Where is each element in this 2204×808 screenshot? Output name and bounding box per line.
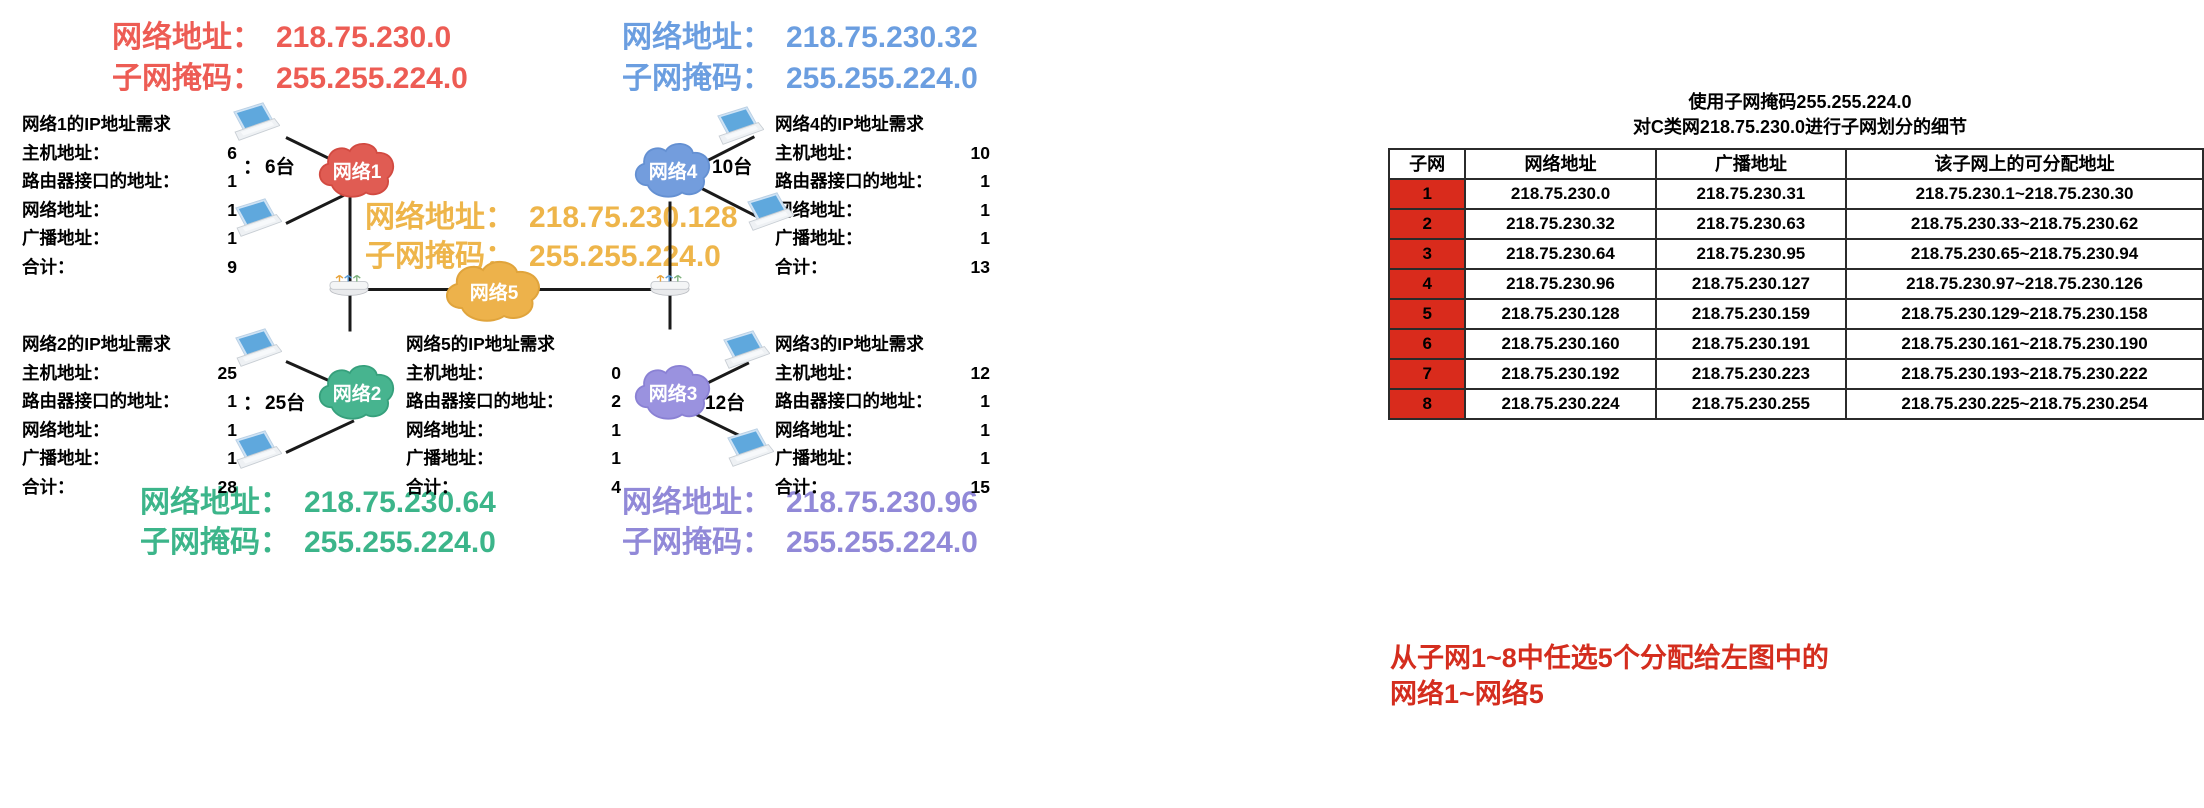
net1-count-colon: ： bbox=[243, 152, 262, 179]
net2-host-count: 25台 bbox=[265, 388, 305, 415]
cell-network-address: 218.75.230.160 bbox=[1465, 329, 1655, 359]
row-label-host: 主机地址： bbox=[22, 139, 110, 168]
cell-subnet-index: 7 bbox=[1389, 359, 1465, 389]
net1-total-value: 9 bbox=[197, 253, 237, 282]
cell-usable-range: 218.75.230.129~218.75.230.158 bbox=[1846, 299, 2203, 329]
table-header-row: 子网 网络地址 广播地址 该子网上的可分配地址 bbox=[1389, 149, 2203, 179]
cell-broadcast-address: 218.75.230.223 bbox=[1656, 359, 1846, 389]
net1-address-key: 网络地址： bbox=[112, 21, 262, 54]
cell-network-address: 218.75.230.0 bbox=[1465, 179, 1655, 209]
cell-broadcast-address: 218.75.230.63 bbox=[1656, 209, 1846, 239]
net3-network-value: 1 bbox=[950, 416, 990, 445]
row-label-broadcast: 广播地址： bbox=[22, 444, 110, 473]
cell-subnet-index: 4 bbox=[1389, 269, 1465, 299]
laptop-icon bbox=[740, 192, 794, 232]
net4-mask-label: 子网掩码：255.255.224.0 bbox=[622, 59, 978, 99]
router-icon bbox=[647, 272, 693, 298]
net1-router-value: 1 bbox=[197, 167, 237, 196]
net3-broadcast-value: 1 bbox=[950, 444, 990, 473]
net5-address-label: 网络地址：218.75.230.128 bbox=[365, 198, 738, 238]
laptop-icon bbox=[228, 328, 282, 368]
net4-requirements-title: 网络4的IP地址需求 bbox=[775, 110, 1030, 139]
table-row[interactable]: 1218.75.230.0218.75.230.31218.75.230.1~2… bbox=[1389, 179, 2203, 209]
row-label-total: 合计： bbox=[775, 253, 828, 282]
col-header-broadcast-address: 广播地址 bbox=[1656, 149, 1846, 179]
cloud-net2-label: 网络2 bbox=[312, 362, 402, 422]
net2-mask-label: 子网掩码：255.255.224.0 bbox=[140, 523, 496, 563]
net3-router-value: 1 bbox=[950, 387, 990, 416]
row-label-router: 路由器接口的地址： bbox=[22, 167, 180, 196]
cell-broadcast-address: 218.75.230.191 bbox=[1656, 329, 1846, 359]
net1-mask-value: 255.255.224.0 bbox=[276, 62, 468, 95]
row-label-total: 合计： bbox=[22, 253, 75, 282]
row-label-router: 路由器接口的地址： bbox=[775, 387, 933, 416]
net1-address-label: 网络地址：218.75.230.0 bbox=[112, 18, 451, 58]
cell-subnet-index: 8 bbox=[1389, 389, 1465, 419]
net2-total-value: 28 bbox=[197, 473, 237, 502]
row-label-network: 网络地址： bbox=[775, 416, 863, 445]
cell-network-address: 218.75.230.224 bbox=[1465, 389, 1655, 419]
net3-mask-value: 255.255.224.0 bbox=[786, 526, 978, 559]
net4-mask-key: 子网掩码： bbox=[622, 62, 772, 95]
table-caption: 使用子网掩码255.255.224.0 对C类网218.75.230.0进行子网… bbox=[1430, 90, 2170, 140]
table-row[interactable]: 5218.75.230.128218.75.230.159218.75.230.… bbox=[1389, 299, 2203, 329]
net5-host-value: 0 bbox=[581, 359, 621, 388]
net4-address-value: 218.75.230.32 bbox=[786, 21, 978, 54]
cell-usable-range: 218.75.230.225~218.75.230.254 bbox=[1846, 389, 2203, 419]
laptop-icon bbox=[226, 102, 280, 142]
row-label-total: 合计： bbox=[406, 473, 459, 502]
subnet-table: 子网 网络地址 广播地址 该子网上的可分配地址 1218.75.230.0218… bbox=[1388, 148, 2204, 420]
net4-broadcast-value: 1 bbox=[950, 224, 990, 253]
cell-usable-range: 218.75.230.161~218.75.230.190 bbox=[1846, 329, 2203, 359]
row-label-host: 主机地址： bbox=[22, 359, 110, 388]
cell-subnet-index: 3 bbox=[1389, 239, 1465, 269]
row-label-network: 网络地址： bbox=[22, 416, 110, 445]
cell-network-address: 218.75.230.96 bbox=[1465, 269, 1655, 299]
cell-usable-range: 218.75.230.33~218.75.230.62 bbox=[1846, 209, 2203, 239]
net5-requirements-title: 网络5的IP地址需求 bbox=[406, 330, 661, 359]
table-row[interactable]: 3218.75.230.64218.75.230.95218.75.230.65… bbox=[1389, 239, 2203, 269]
table-row[interactable]: 6218.75.230.160218.75.230.191218.75.230.… bbox=[1389, 329, 2203, 359]
row-label-router: 路由器接口的地址： bbox=[775, 167, 933, 196]
cell-broadcast-address: 218.75.230.95 bbox=[1656, 239, 1846, 269]
net5-requirements: 网络5的IP地址需求 主机地址：0 路由器接口的地址：2 网络地址：1 广播地址… bbox=[406, 330, 661, 501]
cloud-net4-label: 网络4 bbox=[628, 140, 718, 200]
cell-subnet-index: 2 bbox=[1389, 209, 1465, 239]
net5-address-value: 218.75.230.128 bbox=[529, 201, 738, 234]
row-label-broadcast: 广播地址： bbox=[775, 444, 863, 473]
assignment-note-line2: 网络1~网络5 bbox=[1390, 676, 1829, 712]
row-label-network: 网络地址： bbox=[406, 416, 494, 445]
table-row[interactable]: 4218.75.230.96218.75.230.127218.75.230.9… bbox=[1389, 269, 2203, 299]
net3-mask-label: 子网掩码：255.255.224.0 bbox=[622, 523, 978, 563]
net5-total-value: 4 bbox=[581, 473, 621, 502]
cell-broadcast-address: 218.75.230.255 bbox=[1656, 389, 1846, 419]
table-row[interactable]: 2218.75.230.32218.75.230.63218.75.230.33… bbox=[1389, 209, 2203, 239]
cell-usable-range: 218.75.230.65~218.75.230.94 bbox=[1846, 239, 2203, 269]
row-label-router: 路由器接口的地址： bbox=[22, 387, 180, 416]
net2-mask-key: 子网掩码： bbox=[140, 526, 290, 559]
laptop-icon bbox=[228, 198, 282, 238]
router-icon bbox=[326, 272, 372, 298]
row-label-broadcast: 广播地址： bbox=[22, 224, 110, 253]
net2-count-colon: ： bbox=[243, 388, 262, 415]
net1-host-value: 6 bbox=[197, 139, 237, 168]
cell-network-address: 218.75.230.192 bbox=[1465, 359, 1655, 389]
cell-subnet-index: 6 bbox=[1389, 329, 1465, 359]
net4-router-value: 1 bbox=[950, 167, 990, 196]
table-row[interactable]: 8218.75.230.224218.75.230.255218.75.230.… bbox=[1389, 389, 2203, 419]
net1-host-count: 6台 bbox=[265, 152, 295, 179]
net1-mask-key: 子网掩码： bbox=[112, 62, 262, 95]
net3-requirements: 网络3的IP地址需求 主机地址：12 路由器接口的地址：1 网络地址：1 广播地… bbox=[775, 330, 1030, 501]
cloud-net2[interactable]: 网络2 bbox=[312, 362, 402, 422]
cloud-net5-label: 网络5 bbox=[438, 258, 550, 324]
row-label-router: 路由器接口的地址： bbox=[406, 387, 564, 416]
subnet-table-wrapper: 子网 网络地址 广播地址 该子网上的可分配地址 1218.75.230.0218… bbox=[1388, 148, 2204, 420]
row-label-total: 合计： bbox=[22, 473, 75, 502]
cloud-net1[interactable]: 网络1 bbox=[312, 140, 402, 200]
cell-subnet-index: 5 bbox=[1389, 299, 1465, 329]
cell-usable-range: 218.75.230.97~218.75.230.126 bbox=[1846, 269, 2203, 299]
cell-network-address: 218.75.230.128 bbox=[1465, 299, 1655, 329]
net5-mask-value: 255.255.224.0 bbox=[529, 240, 721, 273]
cloud-net4[interactable]: 网络4 bbox=[628, 140, 718, 200]
cloud-net3-label: 网络3 bbox=[628, 362, 718, 422]
net3-requirements-title: 网络3的IP地址需求 bbox=[775, 330, 1030, 359]
cloud-net1-label: 网络1 bbox=[312, 140, 402, 200]
cloud-net3[interactable]: 网络3 bbox=[628, 362, 718, 422]
net5-network-value: 1 bbox=[581, 416, 621, 445]
cloud-net5[interactable]: 网络5 bbox=[438, 258, 550, 324]
cell-broadcast-address: 218.75.230.31 bbox=[1656, 179, 1846, 209]
table-caption-line2: 对C类网218.75.230.0进行子网划分的细节 bbox=[1430, 115, 2170, 140]
row-label-host: 主机地址： bbox=[406, 359, 494, 388]
subnet-table-body: 1218.75.230.0218.75.230.31218.75.230.1~2… bbox=[1389, 179, 2203, 419]
cell-usable-range: 218.75.230.193~218.75.230.222 bbox=[1846, 359, 2203, 389]
net4-requirements: 网络4的IP地址需求 主机地址：10 路由器接口的地址：1 网络地址：1 广播地… bbox=[775, 110, 1030, 281]
cell-broadcast-address: 218.75.230.159 bbox=[1656, 299, 1846, 329]
cell-usable-range: 218.75.230.1~218.75.230.30 bbox=[1846, 179, 2203, 209]
cell-subnet-index: 1 bbox=[1389, 179, 1465, 209]
net4-host-value: 10 bbox=[950, 139, 990, 168]
row-label-total: 合计： bbox=[775, 473, 828, 502]
table-row[interactable]: 7218.75.230.192218.75.230.223218.75.230.… bbox=[1389, 359, 2203, 389]
net2-mask-value: 255.255.224.0 bbox=[304, 526, 496, 559]
laptop-icon bbox=[716, 330, 770, 370]
laptop-icon bbox=[720, 428, 774, 468]
net5-broadcast-value: 1 bbox=[581, 444, 621, 473]
assignment-note-line1: 从子网1~8中任选5个分配给左图中的 bbox=[1390, 640, 1829, 676]
cell-broadcast-address: 218.75.230.127 bbox=[1656, 269, 1846, 299]
net1-mask-label: 子网掩码：255.255.224.0 bbox=[112, 59, 468, 99]
col-header-network-address: 网络地址 bbox=[1465, 149, 1655, 179]
net3-total-value: 15 bbox=[950, 473, 990, 502]
net4-mask-value: 255.255.224.0 bbox=[786, 62, 978, 95]
net4-address-key: 网络地址： bbox=[622, 21, 772, 54]
link-net2-laptop-bottom bbox=[285, 419, 354, 453]
col-header-usable-addresses: 该子网上的可分配地址 bbox=[1846, 149, 2203, 179]
row-label-host: 主机地址： bbox=[775, 359, 863, 388]
net5-address-key: 网络地址： bbox=[365, 201, 515, 234]
cell-network-address: 218.75.230.64 bbox=[1465, 239, 1655, 269]
laptop-icon bbox=[228, 430, 282, 470]
net2-router-value: 1 bbox=[197, 387, 237, 416]
laptop-icon bbox=[710, 106, 764, 146]
net1-address-value: 218.75.230.0 bbox=[276, 21, 451, 54]
table-caption-line1: 使用子网掩码255.255.224.0 bbox=[1430, 90, 2170, 115]
cell-network-address: 218.75.230.32 bbox=[1465, 209, 1655, 239]
row-label-host: 主机地址： bbox=[775, 139, 863, 168]
row-label-broadcast: 广播地址： bbox=[406, 444, 494, 473]
col-header-subnet: 子网 bbox=[1389, 149, 1465, 179]
net4-address-label: 网络地址：218.75.230.32 bbox=[622, 18, 978, 58]
net5-router-value: 2 bbox=[581, 387, 621, 416]
row-label-network: 网络地址： bbox=[22, 196, 110, 225]
net3-host-value: 12 bbox=[950, 359, 990, 388]
net4-network-value: 1 bbox=[950, 196, 990, 225]
net3-mask-key: 子网掩码： bbox=[622, 526, 772, 559]
net4-total-value: 13 bbox=[950, 253, 990, 282]
assignment-note: 从子网1~8中任选5个分配给左图中的 网络1~网络5 bbox=[1390, 640, 1829, 712]
